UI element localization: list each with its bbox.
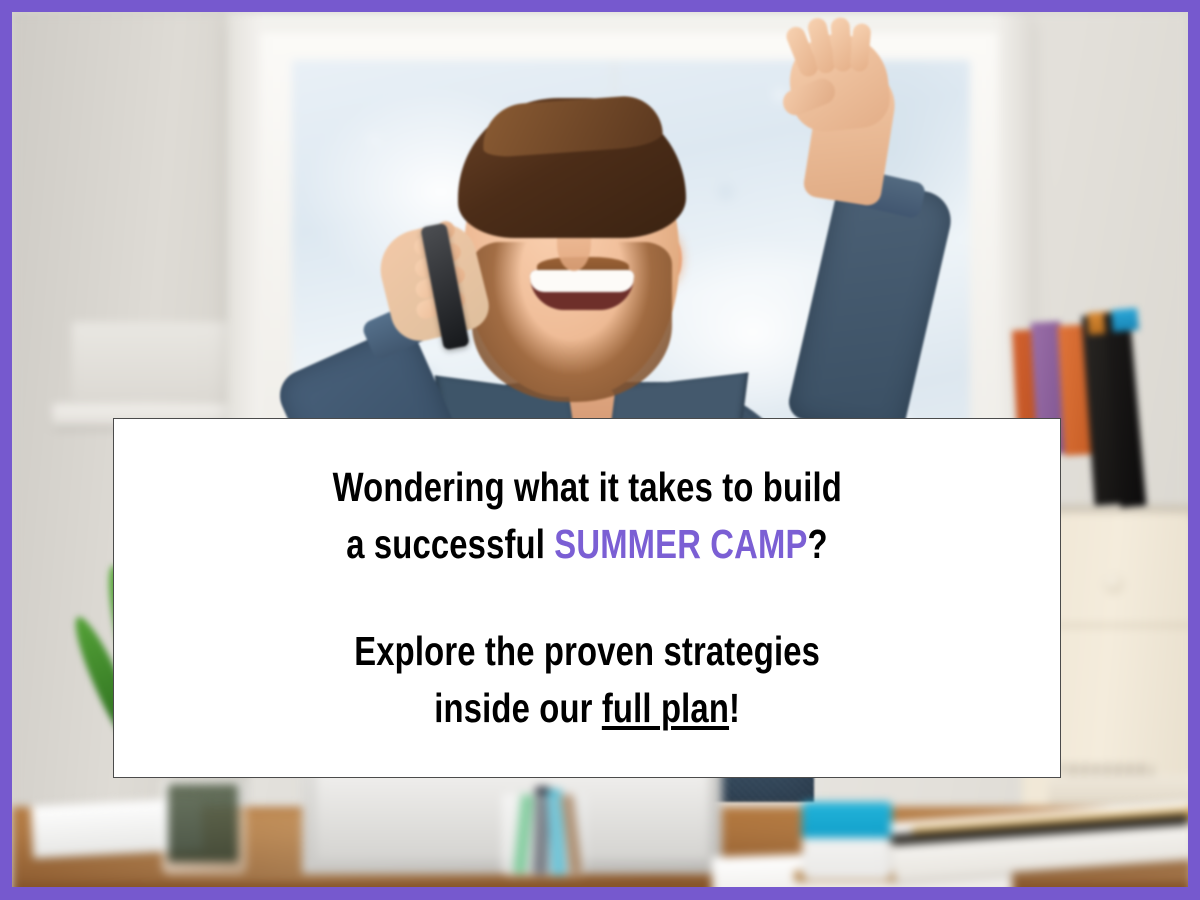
plant-glass-contents bbox=[168, 784, 238, 862]
caption-line-1: Wondering what it takes to build bbox=[332, 459, 841, 516]
paper-cup-teal-band bbox=[802, 802, 892, 838]
caption-line-4-suffix: ! bbox=[729, 685, 740, 731]
caption-line-4-prefix: inside our bbox=[434, 685, 602, 731]
caption-line-1-text: Wondering what it takes to build bbox=[332, 464, 841, 510]
slide-frame: Wondering what it takes to build a succe… bbox=[0, 0, 1200, 900]
caption-line-3-text: Explore the proven strategies bbox=[354, 628, 820, 674]
full-plan-link[interactable]: full plan bbox=[602, 685, 729, 731]
caption-line-4: inside our full plan! bbox=[434, 680, 740, 737]
caption-line-2-suffix: ? bbox=[808, 521, 828, 567]
caption-line-2: a successful SUMMER CAMP? bbox=[346, 516, 828, 573]
caption-line-3: Explore the proven strategies bbox=[354, 623, 820, 680]
caption-line-2-prefix: a successful bbox=[346, 521, 554, 567]
pen-holder-glass bbox=[502, 794, 586, 876]
summer-camp-highlight: SUMMER CAMP bbox=[554, 521, 807, 567]
caption-card: Wondering what it takes to build a succe… bbox=[113, 418, 1061, 778]
